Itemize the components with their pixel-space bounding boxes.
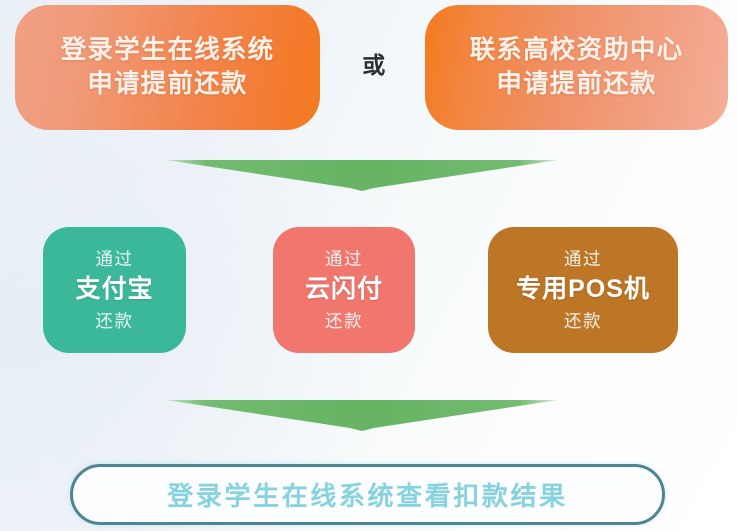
step2-card-alipay-suffix: 还款 [96,308,134,335]
down-chevron-icon-top-shape [166,158,558,192]
step1-option-apply-online-line2: 申请提前还款 [87,68,247,101]
step1-option-contact-center-line2: 申请提前还款 [496,68,656,101]
step2-card-pos-prefix: 通过 [564,246,602,273]
step2-card-unionpay-suffix: 还款 [325,308,363,335]
step2-card-alipay[interactable]: 通过 支付宝 还款 [43,227,186,353]
step3-check-result-pill[interactable]: 登录学生在线系统查看扣款结果 [70,464,665,525]
down-chevron-icon-bottom [166,398,558,432]
step1-or-separator: 或 [340,46,408,80]
step1-option-apply-online[interactable]: 登录学生在线系统 申请提前还款 [15,5,320,130]
step2-card-pos-suffix: 还款 [564,308,602,335]
down-chevron-icon-top [166,158,558,192]
down-chevron-icon-bottom-shape [166,398,558,432]
step2-card-alipay-prefix: 通过 [96,246,134,273]
repayment-flow-infographic: 登录学生在线系统 申请提前还款 或 联系高校资助中心 申请提前还款 通过 支付宝… [0,0,737,531]
step2-card-alipay-name: 支付宝 [75,272,153,308]
step2-card-pos-name: 专用POS机 [516,272,650,308]
step1-option-contact-center-line1: 联系高校资助中心 [470,34,684,67]
step2-card-unionpay-prefix: 通过 [325,246,363,273]
step1-option-apply-online-line1: 登录学生在线系统 [61,34,275,67]
step2-card-unionpay-name: 云闪付 [305,272,383,308]
step2-card-pos[interactable]: 通过 专用POS机 还款 [488,227,678,353]
step2-card-unionpay[interactable]: 通过 云闪付 还款 [273,227,415,353]
step3-check-result-label: 登录学生在线系统查看扣款结果 [167,476,567,513]
step1-option-contact-center[interactable]: 联系高校资助中心 申请提前还款 [425,5,728,130]
